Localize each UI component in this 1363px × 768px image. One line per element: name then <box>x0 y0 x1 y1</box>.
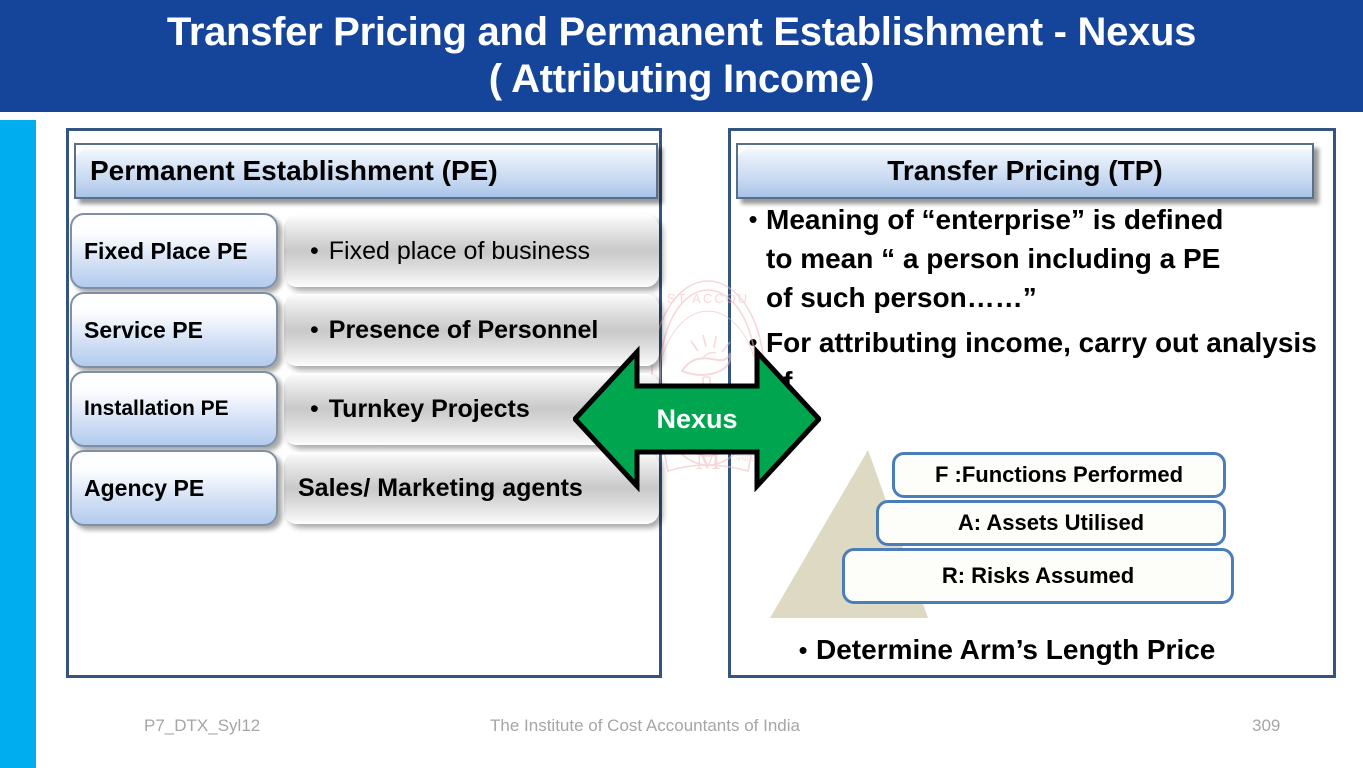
far-box-risks[interactable]: R: Risks Assumed <box>842 548 1234 604</box>
footer-page-number: 309 <box>1252 716 1280 736</box>
bullet-icon: • <box>740 200 766 239</box>
slide-footer: P7_DTX_Syl12 The Institute of Cost Accou… <box>0 716 1363 750</box>
pe-description-label: Turnkey Projects <box>329 395 530 424</box>
pe-description-bar-fixed-place[interactable]: • Fixed place of business <box>284 215 659 287</box>
pe-type-button-installation[interactable]: Installation PE <box>70 371 278 447</box>
pe-description-label: Presence of Personnel <box>329 316 599 345</box>
slide-title-bar: Transfer Pricing and Permanent Establish… <box>0 0 1363 112</box>
pe-row: Fixed Place PE • Fixed place of business <box>66 213 666 291</box>
bullet-icon: • <box>790 630 816 670</box>
pe-description-label: Fixed place of business <box>329 237 590 266</box>
tp-bullet-item: • For attributing income, carry out anal… <box>740 323 1336 401</box>
pe-panel-header: Permanent Establishment (PE) <box>74 143 658 199</box>
slide-title-line-1: Transfer Pricing and Permanent Establish… <box>167 9 1196 56</box>
nexus-bidirectional-arrow-icon <box>573 346 821 492</box>
footer-course-code: P7_DTX_Syl12 <box>144 716 260 736</box>
left-accent-strip <box>0 120 36 768</box>
pe-type-button-fixed-place[interactable]: Fixed Place PE <box>70 213 278 289</box>
far-analysis-group: F :Functions Performed A: Assets Utilise… <box>770 450 1270 620</box>
pe-type-label: Installation PE <box>84 397 229 421</box>
pe-description-label: Sales/ Marketing agents <box>298 474 583 503</box>
pe-panel-header-label: Permanent Establishment (PE) <box>90 155 656 187</box>
far-box-assets[interactable]: A: Assets Utilised <box>876 500 1226 546</box>
tp-final-bullet-item: • Determine Arm’s Length Price <box>790 630 1330 670</box>
bullet-icon: • <box>310 318 319 343</box>
tp-panel-header-label: Transfer Pricing (TP) <box>738 155 1312 187</box>
tp-panel-header: Transfer Pricing (TP) <box>736 143 1314 199</box>
tp-bullet-text: Meaning of “enterprise” is defined to me… <box>766 200 1236 317</box>
pe-type-button-service[interactable]: Service PE <box>70 292 278 368</box>
tp-final-bullet-text: Determine Arm’s Length Price <box>816 630 1215 670</box>
pe-type-label: Service PE <box>84 317 203 344</box>
pe-type-label: Fixed Place PE <box>84 238 248 265</box>
tp-bullet-text: For attributing income, carry out analys… <box>766 323 1332 401</box>
tp-bullet-item: • Meaning of “enterprise” is defined to … <box>740 200 1250 317</box>
bullet-icon: • <box>310 397 319 422</box>
far-box-functions[interactable]: F :Functions Performed <box>892 452 1226 498</box>
bullet-icon: • <box>310 239 319 264</box>
pe-type-button-agency[interactable]: Agency PE <box>70 450 278 526</box>
pe-type-label: Agency PE <box>84 475 204 502</box>
footer-institute-name: The Institute of Cost Accountants of Ind… <box>490 716 800 736</box>
slide-title-line-2: ( Attributing Income) <box>489 56 875 103</box>
tp-bullet-list: • Meaning of “enterprise” is defined to … <box>740 200 1336 405</box>
